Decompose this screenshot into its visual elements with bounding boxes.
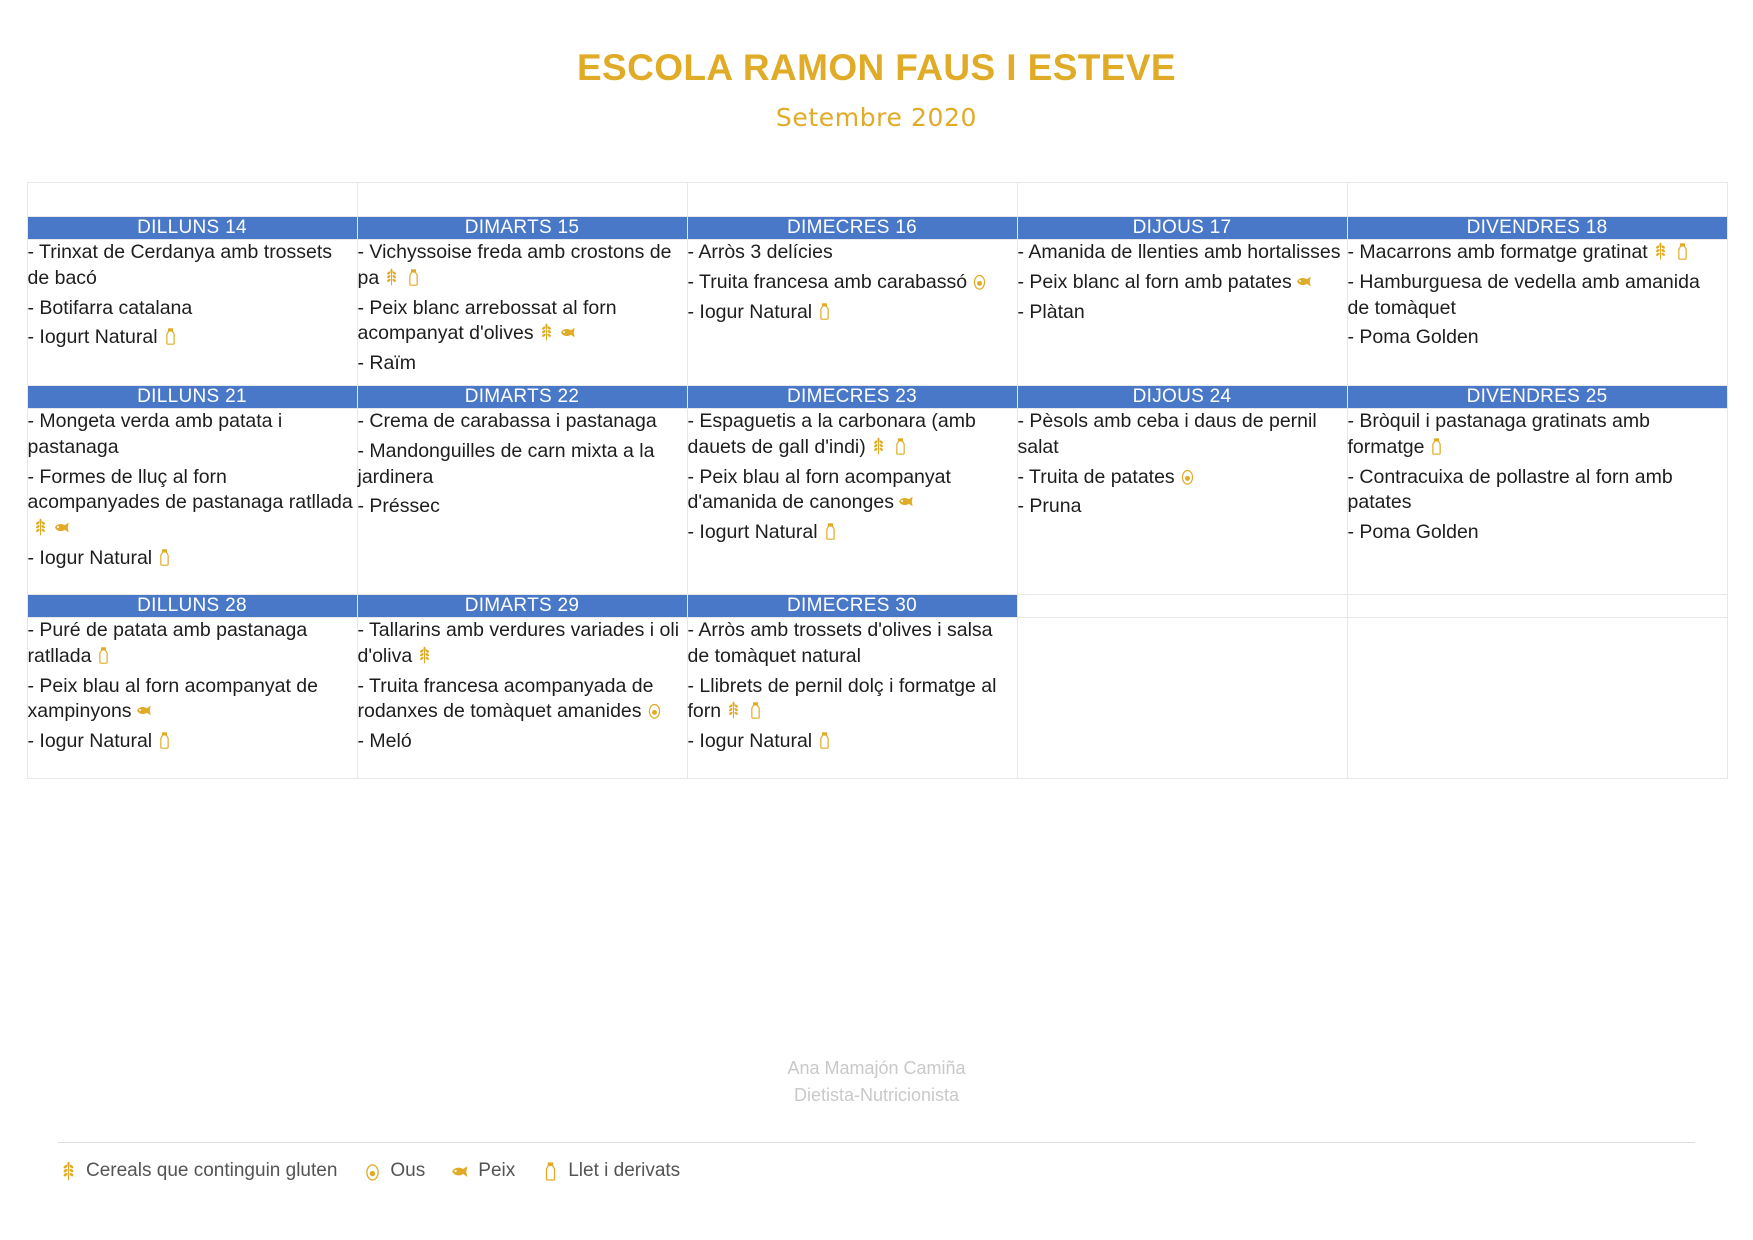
dish-item: - Iogurt Natural xyxy=(28,325,357,351)
dish-item: - Iogur Natural xyxy=(688,300,1017,326)
dish-item: - Trinxat de Cerdanya amb trossets de ba… xyxy=(28,240,357,292)
milk-icon xyxy=(1673,242,1692,261)
fish-icon xyxy=(450,1161,471,1182)
gluten-icon xyxy=(869,437,888,456)
dish-item: - Contracuixa de pollastre al forn amb p… xyxy=(1348,465,1727,517)
dish-allergens xyxy=(1648,241,1692,263)
gluten-icon xyxy=(1651,242,1670,261)
dish-item: - Truita francesa acompanyada de rodanxe… xyxy=(358,674,687,726)
dish-item: - Préssec xyxy=(358,494,687,520)
dish-item: - Iogur Natural xyxy=(688,729,1017,755)
dish-text: - Préssec xyxy=(358,495,440,517)
fish-icon xyxy=(897,492,916,511)
dish-allergens xyxy=(412,645,434,667)
legend-item-egg: Ous xyxy=(362,1160,425,1182)
dish-text: - Arròs amb trossets d'olives i salsa de… xyxy=(688,619,993,667)
dish-text: - Plàtan xyxy=(1018,301,1085,323)
dish-item: - Botifarra catalana xyxy=(28,296,357,322)
day-cell-dilluns-21: - Mongeta verda amb patata i pastanaga- … xyxy=(27,408,357,594)
dish-text: - Iogur Natural xyxy=(688,301,813,323)
day-cell-dimecres-23: - Espaguetis a la carbonara (amb dauets … xyxy=(687,408,1017,594)
day-cell-dilluns-28: - Puré de patata amb pastanaga ratllada-… xyxy=(27,617,357,778)
day-header-dijous-24: DIJOUS 24 xyxy=(1017,385,1347,408)
spacer-cell xyxy=(357,182,687,216)
dish-text: - Iogurt Natural xyxy=(688,521,818,543)
week-body-row: - Trinxat de Cerdanya amb trossets de ba… xyxy=(27,239,1727,385)
dish-item: - Pèsols amb ceba i daus de pernil salat xyxy=(1018,409,1347,461)
milk-icon xyxy=(540,1161,561,1182)
milk-icon xyxy=(155,548,174,567)
dish-item: - Llibrets de pernil dolç i formatge al … xyxy=(688,674,1017,726)
gluten-icon xyxy=(415,646,434,665)
dish-text: - Contracuixa de pollastre al forn amb p… xyxy=(1348,466,1673,514)
fish-icon xyxy=(1295,272,1314,291)
milk-icon xyxy=(155,731,174,750)
egg-icon xyxy=(970,272,989,291)
dish-item: - Truita de patates xyxy=(1018,465,1347,491)
dish-allergens xyxy=(818,521,840,543)
dish-text: - Puré de patata amb pastanaga ratllada xyxy=(28,619,308,667)
legend-item-gluten: Cereals que continguin gluten xyxy=(58,1160,337,1182)
dish-text: - Crema de carabassa i pastanaga xyxy=(358,410,657,432)
day-header-dimarts-29: DIMARTS 29 xyxy=(357,594,687,617)
dish-allergens xyxy=(534,322,578,344)
page-title: ESCOLA RAMON FAUS I ESTEVE xyxy=(0,48,1753,89)
dish-text: - Trinxat de Cerdanya amb trossets de ba… xyxy=(28,241,333,289)
dish-text: - Truita francesa acompanyada de rodanxe… xyxy=(358,675,654,723)
day-header-divendres-25: DIVENDRES 25 xyxy=(1347,385,1727,408)
day-header-empty xyxy=(1347,594,1727,617)
egg-icon xyxy=(362,1161,383,1182)
milk-icon xyxy=(404,268,423,287)
day-cell-dijous-24: - Pèsols amb ceba i daus de pernil salat… xyxy=(1017,408,1347,594)
dish-allergens xyxy=(812,301,834,323)
egg-icon xyxy=(1178,467,1197,486)
dish-text: - Peix blanc al forn amb patates xyxy=(1018,271,1292,293)
dish-text: - Pruna xyxy=(1018,495,1082,517)
dish-item: - Truita francesa amb carabassó xyxy=(688,270,1017,296)
dish-allergens xyxy=(379,267,423,289)
dish-item: - Bròquil i pastanaga gratinats amb form… xyxy=(1348,409,1727,461)
legend-label: Ous xyxy=(390,1160,425,1182)
day-header-empty xyxy=(1017,594,1347,617)
signature-block: Ana Mamajón Camiña Dietista-Nutricionist… xyxy=(0,1055,1753,1109)
dish-item: - Peix blau al forn acompanyat d'amanida… xyxy=(688,465,1017,517)
milk-icon xyxy=(161,327,180,346)
dish-text: - Raïm xyxy=(358,352,417,374)
dish-item: - Iogur Natural xyxy=(28,546,357,572)
dish-item: - Hamburguesa de vedella amb amanida de … xyxy=(1348,270,1727,322)
dish-text: - Arròs 3 delícies xyxy=(688,241,833,263)
spacer-cell xyxy=(1347,182,1727,216)
dish-text: - Iogur Natural xyxy=(28,547,153,569)
dish-allergens xyxy=(132,700,154,722)
day-header-dimecres-30: DIMECRES 30 xyxy=(687,594,1017,617)
dish-item: - Peix blau al forn acompanyat de xampin… xyxy=(28,674,357,726)
gluten-icon xyxy=(58,1161,79,1182)
milk-icon xyxy=(891,437,910,456)
day-header-divendres-18: DIVENDRES 18 xyxy=(1347,216,1727,239)
day-cell-divendres-18: - Macarrons amb formatge gratinat- Hambu… xyxy=(1347,239,1727,385)
day-cell-dimecres-30: - Arròs amb trossets d'olives i salsa de… xyxy=(687,617,1017,778)
dish-item: - Peix blanc arrebossat al forn acompany… xyxy=(358,296,687,348)
dish-allergens xyxy=(28,517,72,539)
spacer-cell xyxy=(687,182,1017,216)
dish-text: - Macarrons amb formatge gratinat xyxy=(1348,241,1648,263)
fish-icon xyxy=(135,701,154,720)
legend-item-fish: Peix xyxy=(450,1160,515,1182)
day-cell-divendres-25: - Bròquil i pastanaga gratinats amb form… xyxy=(1347,408,1727,594)
dish-text: - Tallarins amb verdures variades i oli … xyxy=(358,619,680,667)
day-header-dimarts-22: DIMARTS 22 xyxy=(357,385,687,408)
dish-item: - Plàtan xyxy=(1018,300,1347,326)
legend-item-milk: Llet i derivats xyxy=(540,1160,680,1182)
dish-allergens xyxy=(894,491,916,513)
dish-item: - Tallarins amb verdures variades i oli … xyxy=(358,618,687,670)
legend-label: Cereals que continguin gluten xyxy=(86,1160,337,1182)
legend-label: Llet i derivats xyxy=(568,1160,680,1182)
dish-text: - Iogur Natural xyxy=(28,730,153,752)
dish-item: - Vichyssoise freda amb crostons de pa xyxy=(358,240,687,292)
day-header-dilluns-28: DILLUNS 28 xyxy=(27,594,357,617)
dish-text: - Poma Golden xyxy=(1348,521,1479,543)
dish-allergens xyxy=(152,547,174,569)
milk-icon xyxy=(821,522,840,541)
dish-item: - Arròs 3 delícies xyxy=(688,240,1017,266)
dish-text: - Truita francesa amb carabassó xyxy=(688,271,968,293)
dish-text: - Formes de lluç al forn acompanyades de… xyxy=(28,466,353,514)
dish-allergens xyxy=(721,700,765,722)
day-cell-empty xyxy=(1017,617,1347,778)
dish-text: - Bròquil i pastanaga gratinats amb form… xyxy=(1348,410,1650,458)
dish-allergens xyxy=(1424,436,1446,458)
dish-item: - Espaguetis a la carbonara (amb dauets … xyxy=(688,409,1017,461)
dish-text: - Hamburguesa de vedella amb amanida de … xyxy=(1348,271,1700,319)
fish-icon xyxy=(559,323,578,342)
day-cell-dimarts-29: - Tallarins amb verdures variades i oli … xyxy=(357,617,687,778)
day-header-dilluns-14: DILLUNS 14 xyxy=(27,216,357,239)
fish-icon xyxy=(53,518,72,537)
day-cell-dilluns-14: - Trinxat de Cerdanya amb trossets de ba… xyxy=(27,239,357,385)
egg-icon xyxy=(645,701,664,720)
dish-item: - Arròs amb trossets d'olives i salsa de… xyxy=(688,618,1017,670)
table-spacer-row xyxy=(27,182,1727,216)
week-header-row: DILLUNS 21DIMARTS 22DIMECRES 23DIJOUS 24… xyxy=(27,385,1727,408)
dish-text: - Mongeta verda amb patata i pastanaga xyxy=(28,410,283,458)
gluten-icon xyxy=(382,268,401,287)
day-header-dimecres-16: DIMECRES 16 xyxy=(687,216,1017,239)
footer-divider xyxy=(58,1142,1695,1143)
dish-allergens xyxy=(91,645,113,667)
dish-item: - Formes de lluç al forn acompanyades de… xyxy=(28,465,357,543)
dish-item: - Mongeta verda amb patata i pastanaga xyxy=(28,409,357,461)
dish-item: - Raïm xyxy=(358,351,687,377)
gluten-icon xyxy=(537,323,556,342)
dish-item: - Crema de carabassa i pastanaga xyxy=(358,409,687,435)
page-header: ESCOLA RAMON FAUS I ESTEVE Setembre 2020 xyxy=(0,0,1753,132)
month-subtitle: Setembre 2020 xyxy=(0,103,1753,132)
dish-allergens xyxy=(1175,466,1197,488)
dish-item: - Macarrons amb formatge gratinat xyxy=(1348,240,1727,266)
dish-text: - Espaguetis a la carbonara (amb dauets … xyxy=(688,410,976,458)
day-cell-dimecres-16: - Arròs 3 delícies- Truita francesa amb … xyxy=(687,239,1017,385)
dietitian-name: Ana Mamajón Camiña xyxy=(0,1055,1753,1082)
dish-text: - Mandonguilles de carn mixta a la jardi… xyxy=(358,440,655,488)
dish-item: - Pruna xyxy=(1018,494,1347,520)
dish-text: - Truita de patates xyxy=(1018,466,1175,488)
dish-allergens xyxy=(866,436,910,458)
milk-icon xyxy=(94,646,113,665)
dish-text: - Poma Golden xyxy=(1348,326,1479,348)
dish-allergens xyxy=(642,700,664,722)
menu-table: DILLUNS 14DIMARTS 15DIMECRES 16DIJOUS 17… xyxy=(27,182,1728,779)
gluten-icon xyxy=(724,701,743,720)
milk-icon xyxy=(815,731,834,750)
day-header-dimecres-23: DIMECRES 23 xyxy=(687,385,1017,408)
spacer-cell xyxy=(1017,182,1347,216)
day-cell-dimarts-15: - Vichyssoise freda amb crostons de pa- … xyxy=(357,239,687,385)
day-header-dilluns-21: DILLUNS 21 xyxy=(27,385,357,408)
allergen-legend: Cereals que continguin glutenOusPeixLlet… xyxy=(58,1160,698,1182)
spacer-cell xyxy=(27,182,357,216)
dish-text: - Iogur Natural xyxy=(688,730,813,752)
dish-text: - Botifarra catalana xyxy=(28,297,193,319)
dish-item: - Poma Golden xyxy=(1348,520,1727,546)
legend-label: Peix xyxy=(478,1160,515,1182)
milk-icon xyxy=(746,701,765,720)
dish-item: - Poma Golden xyxy=(1348,325,1727,351)
week-body-row: - Mongeta verda amb patata i pastanaga- … xyxy=(27,408,1727,594)
week-header-row: DILLUNS 14DIMARTS 15DIMECRES 16DIJOUS 17… xyxy=(27,216,1727,239)
dish-text: - Peix blanc arrebossat al forn acompany… xyxy=(358,297,617,345)
dish-item: - Iogur Natural xyxy=(28,729,357,755)
dish-allergens xyxy=(152,730,174,752)
menu-table-wrapper: DILLUNS 14DIMARTS 15DIMECRES 16DIJOUS 17… xyxy=(27,132,1727,779)
day-header-dimarts-15: DIMARTS 15 xyxy=(357,216,687,239)
day-cell-dimarts-22: - Crema de carabassa i pastanaga- Mandon… xyxy=(357,408,687,594)
day-header-dijous-17: DIJOUS 17 xyxy=(1017,216,1347,239)
gluten-icon xyxy=(31,518,50,537)
dish-text: - Pèsols amb ceba i daus de pernil salat xyxy=(1018,410,1317,458)
dish-item: - Puré de patata amb pastanaga ratllada xyxy=(28,618,357,670)
dish-text: - Iogurt Natural xyxy=(28,326,158,348)
day-cell-dijous-17: - Amanida de llenties amb hortalisses- P… xyxy=(1017,239,1347,385)
dish-allergens xyxy=(158,326,180,348)
dish-allergens xyxy=(967,271,989,293)
dish-item: - Amanida de llenties amb hortalisses xyxy=(1018,240,1347,266)
week-body-row: - Puré de patata amb pastanaga ratllada-… xyxy=(27,617,1727,778)
dish-item: - Iogurt Natural xyxy=(688,520,1017,546)
day-cell-empty xyxy=(1347,617,1727,778)
dish-item: - Peix blanc al forn amb patates xyxy=(1018,270,1347,296)
milk-icon xyxy=(815,302,834,321)
dish-text: - Amanida de llenties amb hortalisses xyxy=(1018,241,1341,263)
menu-page: ESCOLA RAMON FAUS I ESTEVE Setembre 2020… xyxy=(0,0,1753,1240)
week-header-row: DILLUNS 28DIMARTS 29DIMECRES 30 xyxy=(27,594,1727,617)
dish-item: - Mandonguilles de carn mixta a la jardi… xyxy=(358,439,687,491)
dietitian-role: Dietista-Nutricionista xyxy=(0,1082,1753,1109)
dish-allergens xyxy=(1292,271,1314,293)
dish-text: - Peix blau al forn acompanyat de xampin… xyxy=(28,675,319,723)
milk-icon xyxy=(1427,437,1446,456)
dish-allergens xyxy=(812,730,834,752)
dish-item: - Meló xyxy=(358,729,687,755)
dish-text: - Meló xyxy=(358,730,412,752)
